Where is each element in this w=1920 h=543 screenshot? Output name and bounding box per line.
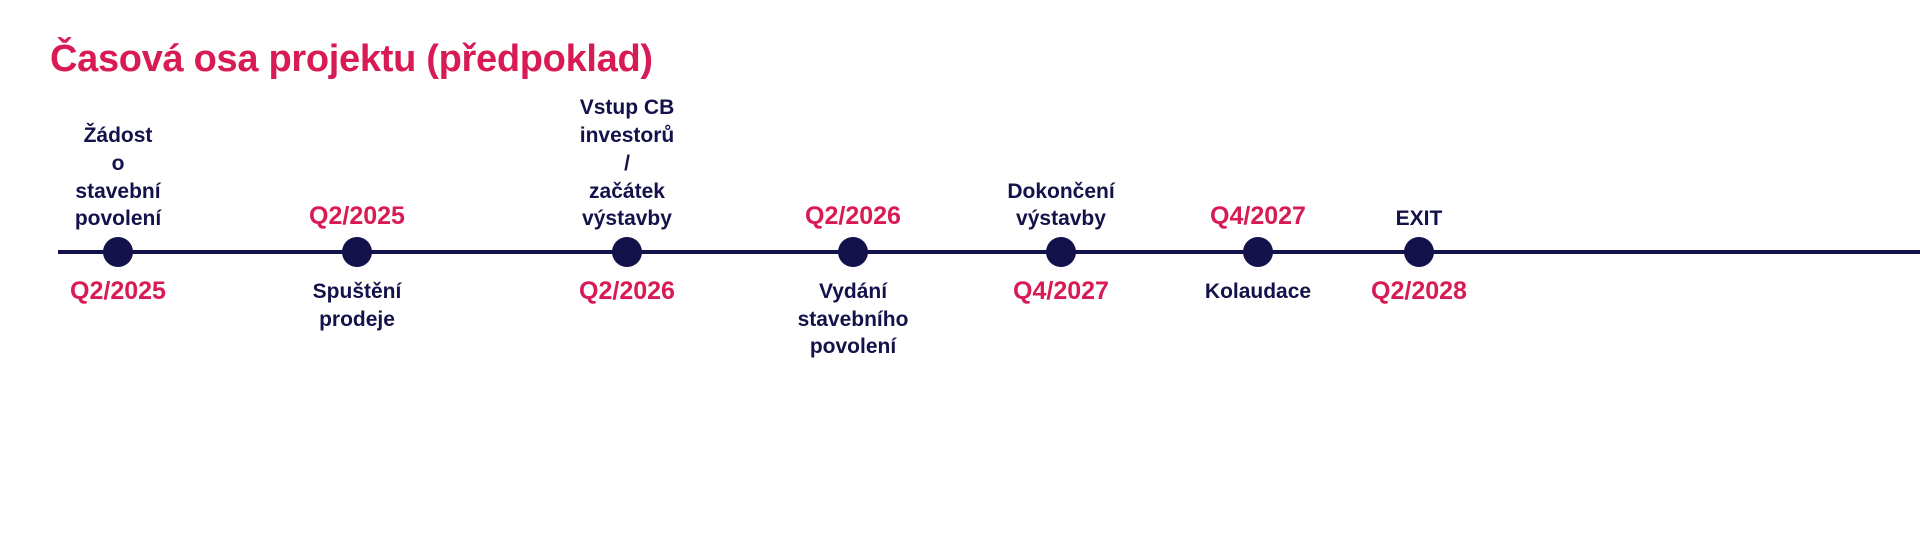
node-milestone-above: EXIT [1396,205,1443,233]
node-date-below: Q4/2027 [1013,275,1109,308]
node-milestone-above: Dokončení výstavby [1007,178,1114,233]
node-milestone-below: Spuštění prodeje [313,278,402,333]
node-milestone-above: Žádost o stavební povolení [75,122,161,233]
node-date-below: Q2/2028 [1371,275,1467,308]
node-date-below: Q2/2025 [70,275,166,308]
timeline-node-dot[interactable] [103,237,133,267]
timeline-node-dot[interactable] [1046,237,1076,267]
node-date-above: Q4/2027 [1210,200,1306,233]
timeline-container: Žádost o stavební povoleníQ2/2025Q2/2025… [0,0,1920,543]
node-milestone-above: Vstup CB investorů / začátek výstavby [580,94,675,233]
timeline-axis-line [58,250,1920,254]
node-milestone-below: Kolaudace [1205,278,1311,306]
timeline-node-dot[interactable] [612,237,642,267]
timeline-node-dot[interactable] [342,237,372,267]
node-date-above: Q2/2025 [309,200,405,233]
node-date-below: Q2/2026 [579,275,675,308]
timeline-node-dot[interactable] [838,237,868,267]
node-milestone-below: Vydání stavebního povolení [798,278,909,361]
timeline-slide: Časová osa projektu (předpoklad) Žádost … [0,0,1920,543]
timeline-node-dot[interactable] [1243,237,1273,267]
node-date-above: Q2/2026 [805,200,901,233]
timeline-node-dot[interactable] [1404,237,1434,267]
